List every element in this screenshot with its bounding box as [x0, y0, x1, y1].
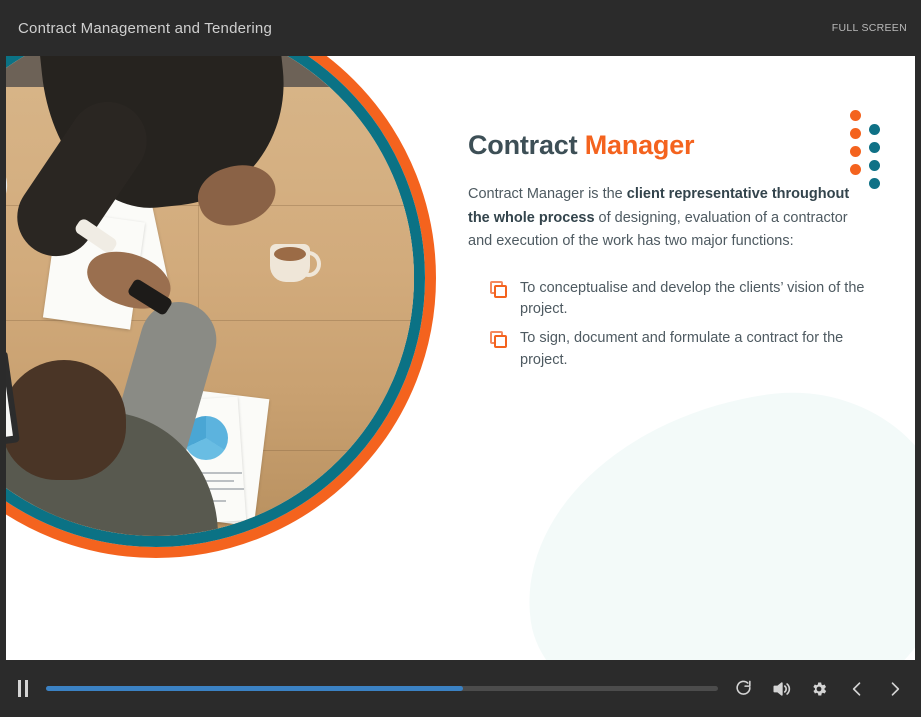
- slide-content: Contract Manager Contract Manager is the…: [468, 130, 868, 379]
- slide-stage: Contract Manager Contract Manager is the…: [6, 56, 915, 660]
- course-player: Contract Management and Tendering FULL S…: [0, 0, 921, 717]
- heading-primary: Contract: [468, 130, 577, 160]
- copy-icon: [490, 281, 508, 299]
- dot-teal: [869, 124, 880, 135]
- slide-paragraph: Contract Manager is the client represent…: [468, 183, 853, 253]
- pause-icon-bar: [25, 680, 28, 697]
- replay-icon[interactable]: [732, 678, 754, 700]
- pause-icon-bar: [18, 680, 21, 697]
- player-controls: [0, 660, 921, 717]
- slide-bullet-list: To conceptualise and develop the clients…: [490, 278, 868, 372]
- progress-bar[interactable]: [46, 686, 718, 691]
- coffee-liquid: [274, 247, 306, 261]
- pause-button[interactable]: [14, 679, 32, 699]
- heading-accent: Manager: [585, 130, 695, 160]
- bullet-text: To sign, document and formulate a contra…: [520, 328, 865, 371]
- copy-icon: [490, 331, 508, 349]
- copy-icon-front-square: [494, 335, 507, 348]
- dot-teal: [869, 142, 880, 153]
- dot-teal: [869, 160, 880, 171]
- fullscreen-button[interactable]: FULL SCREEN: [832, 22, 907, 34]
- gear-icon[interactable]: [808, 678, 830, 700]
- bullet-text: To conceptualise and develop the clients…: [520, 278, 865, 321]
- slide-heading: Contract Manager: [468, 130, 868, 161]
- progress-bar-fill: [46, 686, 463, 691]
- dot-teal: [869, 178, 880, 189]
- handshake-photo: [6, 56, 414, 536]
- dot-orange: [850, 110, 861, 121]
- slide-hero-image: [6, 56, 436, 558]
- previous-icon[interactable]: [846, 678, 868, 700]
- list-item: To conceptualise and develop the clients…: [490, 278, 868, 321]
- player-topbar: Contract Management and Tendering FULL S…: [0, 0, 921, 56]
- paragraph-part1: Contract Manager is the: [468, 186, 627, 202]
- seated-person-head: [6, 360, 126, 480]
- copy-icon-front-square: [494, 285, 507, 298]
- course-title: Contract Management and Tendering: [18, 20, 272, 37]
- decorative-blob: [504, 372, 915, 660]
- list-item: To sign, document and formulate a contra…: [490, 328, 868, 371]
- player-control-buttons: [732, 678, 906, 700]
- volume-icon[interactable]: [770, 678, 792, 700]
- next-icon[interactable]: [884, 678, 906, 700]
